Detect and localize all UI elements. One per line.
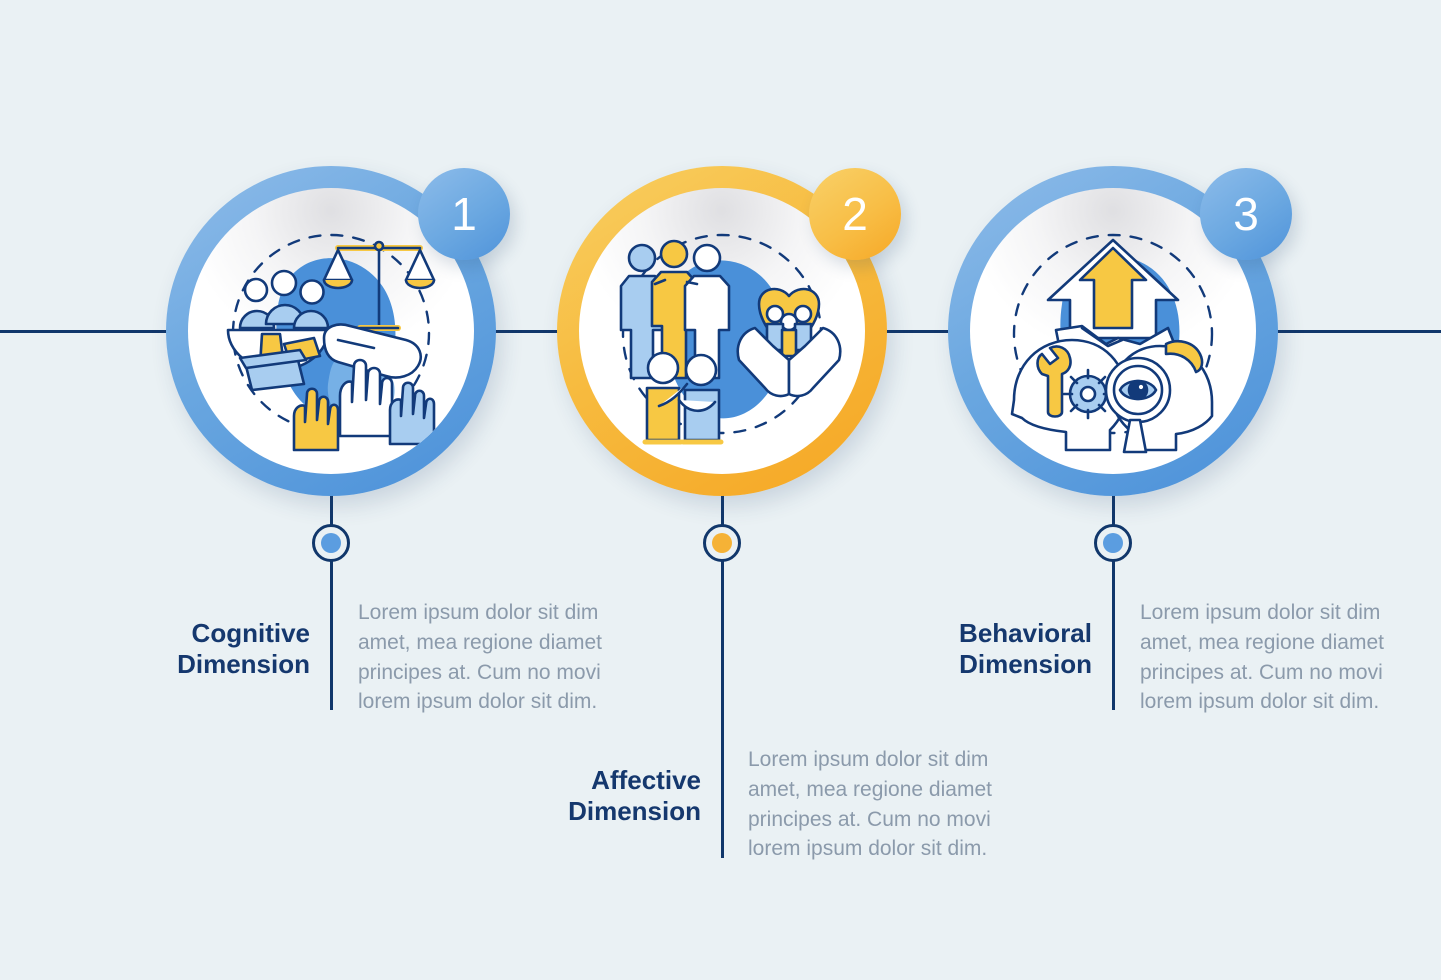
- step-dot-fill-1: [321, 533, 341, 553]
- step-drop-line-1: [330, 478, 333, 710]
- step-dot-fill-3: [1103, 533, 1123, 553]
- step-dot-fill-2: [712, 533, 732, 553]
- step-description-2: Lorem ipsum dolor sit dim amet, mea regi…: [748, 745, 1020, 864]
- step-dot-2[interactable]: [703, 524, 741, 562]
- step-node-2[interactable]: 2: [557, 166, 887, 496]
- step-description-1: Lorem ipsum dolor sit dim amet, mea regi…: [358, 598, 630, 717]
- step-title-1: Cognitive Dimension: [0, 618, 310, 679]
- step-badge-3: 3: [1200, 168, 1292, 260]
- step-title-3: Behavioral Dimension: [782, 618, 1092, 679]
- step-number-3: 3: [1233, 191, 1259, 237]
- step-title-line1-2: Affective: [591, 765, 701, 795]
- step-node-3[interactable]: 3: [948, 166, 1278, 496]
- step-title-line1-1: Cognitive: [192, 618, 310, 648]
- step-number-2: 2: [842, 191, 868, 237]
- step-title-line1-3: Behavioral: [959, 618, 1092, 648]
- step-node-1[interactable]: 1: [166, 166, 496, 496]
- step-drop-line-3: [1112, 478, 1115, 710]
- step-description-3: Lorem ipsum dolor sit dim amet, mea regi…: [1140, 598, 1412, 717]
- step-title-2: Affective Dimension: [391, 765, 701, 826]
- step-title-line2-3: Dimension: [959, 649, 1092, 679]
- step-dot-1[interactable]: [312, 524, 350, 562]
- step-badge-2: 2: [809, 168, 901, 260]
- step-badge-1: 1: [418, 168, 510, 260]
- step-title-line2-2: Dimension: [568, 796, 701, 826]
- step-title-line2-1: Dimension: [177, 649, 310, 679]
- step-number-1: 1: [451, 191, 477, 237]
- step-dot-3[interactable]: [1094, 524, 1132, 562]
- infographic-canvas: 1: [0, 0, 1441, 980]
